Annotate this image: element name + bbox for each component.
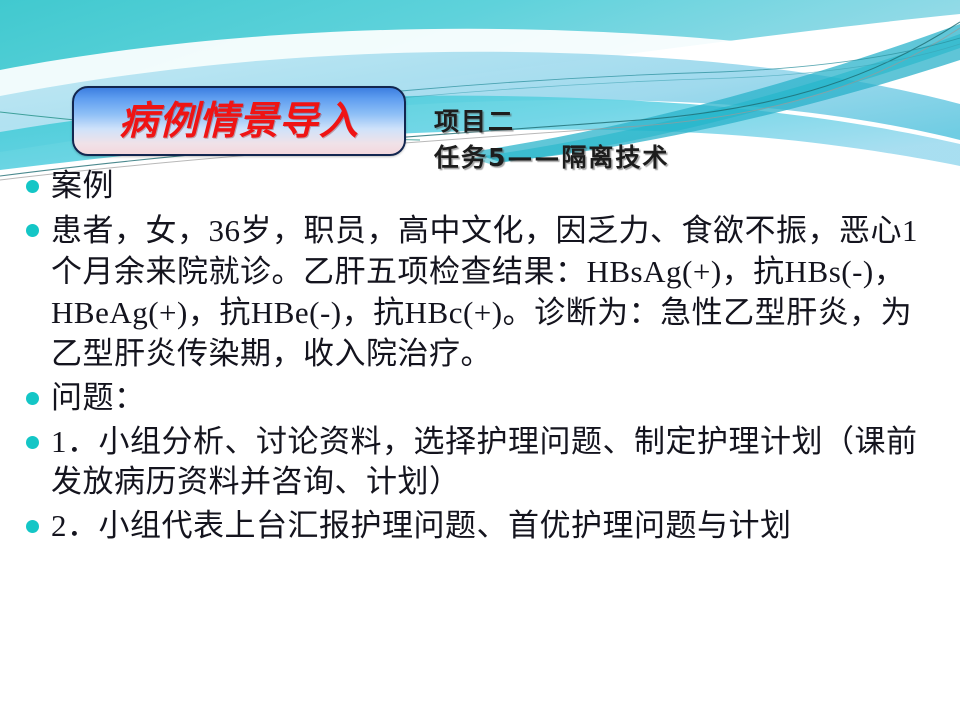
bullet-dot-icon bbox=[26, 520, 39, 533]
bullet-case-description: 患者，女，36岁，职员，高中文化，因乏力、食欲不振，恶心1个月余来院就诊。乙肝五… bbox=[51, 210, 942, 374]
bullet-questions-label: 问题： bbox=[51, 378, 942, 418]
page-title: 病例情景导入 bbox=[119, 102, 359, 141]
bullet-dot-icon bbox=[26, 436, 39, 449]
list-item: 患者，女，36岁，职员，高中文化，因乏力、食欲不振，恶心1个月余来院就诊。乙肝五… bbox=[26, 210, 942, 374]
list-item: 1．小组分析、讨论资料，选择护理问题、制定护理计划（课前发放病历资料并咨询、计划… bbox=[26, 422, 942, 502]
bullet-list: 案例 患者，女，36岁，职员，高中文化，因乏力、食欲不振，恶心1个月余来院就诊。… bbox=[26, 166, 942, 550]
list-item: 问题： bbox=[26, 378, 942, 418]
bullet-case-label: 案例 bbox=[51, 166, 942, 206]
bullet-dot-icon bbox=[26, 224, 39, 237]
bullet-dot-icon bbox=[26, 180, 39, 193]
bullet-question-1: 1．小组分析、讨论资料，选择护理问题、制定护理计划（课前发放病历资料并咨询、计划… bbox=[51, 422, 942, 502]
bullet-question-2: 2．小组代表上台汇报护理问题、首优护理问题与计划 bbox=[51, 506, 942, 546]
list-item: 案例 bbox=[26, 166, 942, 206]
list-item: 2．小组代表上台汇报护理问题、首优护理问题与计划 bbox=[26, 506, 942, 546]
slide-title-plaque: 病例情景导入 bbox=[72, 86, 406, 156]
bullet-dot-icon bbox=[26, 392, 39, 405]
project-heading-line-1: 项目二 bbox=[434, 104, 914, 140]
slide-canvas: 病例情景导入 项目二 任务5——隔离技术 案例 患者，女，36岁，职员，高中文化… bbox=[0, 0, 960, 720]
